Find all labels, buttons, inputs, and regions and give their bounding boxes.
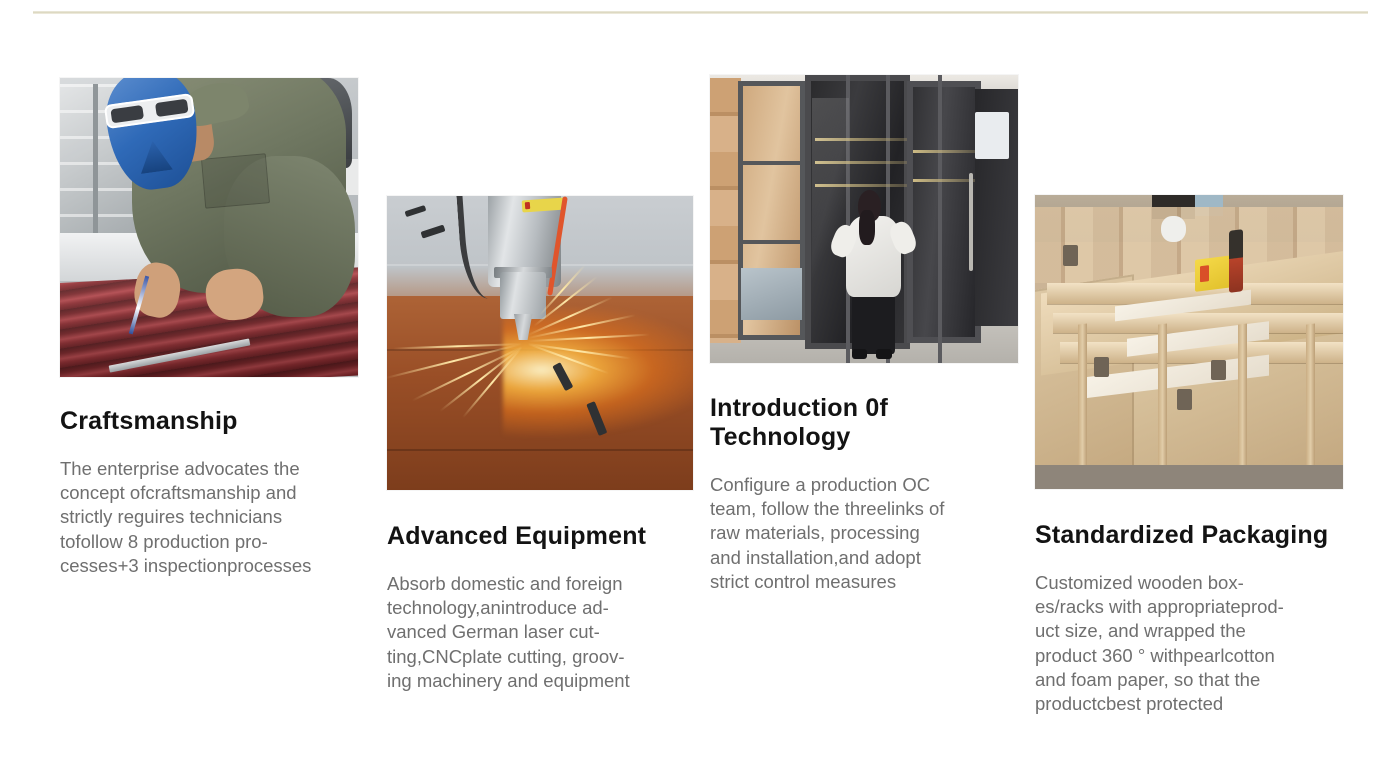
card-title: Introduction 0f Technology	[710, 394, 1018, 452]
lower-glass-pane	[741, 268, 803, 320]
crate-vertical-batten	[1078, 324, 1087, 489]
craftsmanship-photo	[60, 78, 358, 377]
card-body: The enterprise advocates the concept ofc…	[60, 457, 360, 578]
display-shelf	[913, 179, 975, 182]
metal-corner-bracket	[1094, 357, 1109, 378]
metal-corner-bracket	[1063, 245, 1078, 266]
slide-canvas: Craftsmanship The enterprise advocates t…	[0, 0, 1394, 759]
technology-photo	[710, 75, 1018, 363]
equipment-title-wrap: Advanced Equipment	[387, 522, 693, 551]
metal-corner-bracket	[1177, 389, 1192, 410]
card-body: Absorb domestic and foreign technology,a…	[387, 572, 693, 693]
wood-wall-panel	[710, 78, 741, 343]
person-ponytail	[859, 210, 874, 245]
sheet-seam	[387, 449, 693, 451]
advanced-equipment-photo	[387, 196, 693, 490]
card-title: Craftsmanship	[60, 407, 360, 436]
glass-reflection	[812, 98, 849, 328]
technology-title-wrap: Introduction 0f Technology	[710, 394, 1018, 452]
wall-sign	[975, 112, 1009, 158]
card-title: Standardized Packaging	[1035, 521, 1343, 550]
jacket-pocket	[201, 153, 270, 208]
feature-card-craftsmanship: Craftsmanship The enterprise advocates t…	[60, 78, 360, 578]
packaging-photo	[1035, 195, 1343, 489]
crate-vertical-batten	[1158, 324, 1167, 489]
display-shelf	[913, 150, 975, 153]
packaging-title-wrap: Standardized Packaging	[1035, 521, 1343, 550]
door-mullion	[938, 75, 942, 363]
door-handle	[969, 173, 973, 271]
power-drill	[1229, 229, 1243, 292]
plastic-bag	[1161, 216, 1186, 242]
card-body: Customized wooden box- es/racks with app…	[1035, 571, 1343, 716]
feature-card-standardized-packaging: Standardized Packaging Customized wooden…	[1035, 195, 1343, 716]
person-shoe	[876, 349, 891, 359]
crate-vertical-batten	[1238, 324, 1247, 489]
card-body: Configure a production OC team, follow t…	[710, 473, 1018, 594]
feature-card-introduction-of-technology: Introduction 0f Technology Configure a p…	[710, 75, 1018, 594]
card-title: Advanced Equipment	[387, 522, 693, 551]
feature-card-advanced-equipment: Advanced Equipment Absorb domestic and f…	[387, 196, 693, 693]
metal-corner-bracket	[1211, 360, 1226, 381]
craftsmanship-title-wrap: Craftsmanship	[60, 407, 360, 436]
person-shoe	[852, 349, 867, 359]
warehouse-floor	[1035, 465, 1343, 489]
crate-vertical-batten	[1306, 324, 1315, 489]
header-divider-rule	[33, 11, 1368, 14]
